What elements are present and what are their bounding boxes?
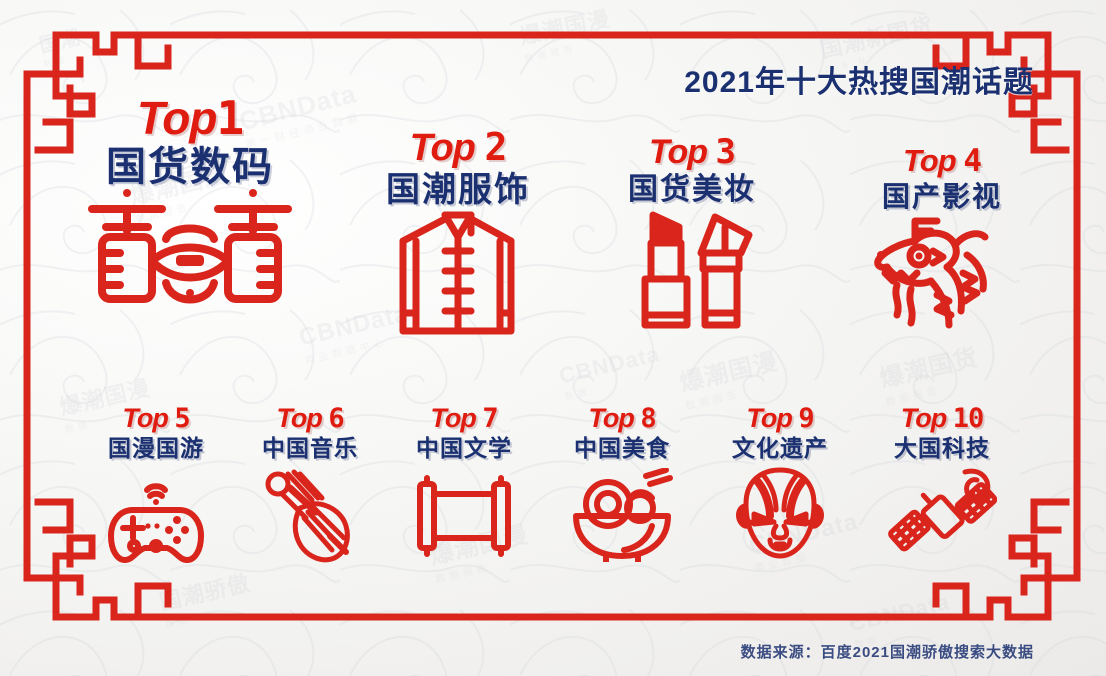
- topic-name-7: 中国文学: [404, 437, 524, 460]
- topic-name-5: 国漫国游: [96, 437, 216, 460]
- data-source-note: 数据来源：百度2021国潮骄傲搜索大数据: [741, 641, 1034, 662]
- topic-name-4: 国产影视: [862, 183, 1022, 211]
- rank-label-6: Top 6: [250, 405, 370, 432]
- dragon-icon: [862, 211, 1022, 336]
- watermark: CBNData数据: [557, 341, 666, 403]
- watermark: 国潮骄傲数据: [156, 565, 256, 631]
- rank-label-1: Top1: [70, 95, 310, 141]
- topic-card-3[interactable]: Top 3 国货美妆: [612, 135, 772, 333]
- topic-name-9: 文化遗产: [720, 437, 840, 460]
- topic-card-8[interactable]: Top 8 中国美食: [562, 405, 682, 562]
- watermark: 爆潮国漫数据报告: [516, 1, 616, 65]
- satellite-icon: [872, 466, 1012, 566]
- topic-card-4[interactable]: Top 4 国产影视: [862, 145, 1022, 336]
- topic-card-2[interactable]: Top 2 国潮服饰: [368, 128, 548, 339]
- pipa-icon: [250, 468, 370, 568]
- gamepad-icon: [96, 474, 216, 566]
- topic-card-9[interactable]: Top 9 文化遗产: [720, 405, 840, 562]
- watermark: 爆潮国漫数据报告: [676, 341, 785, 412]
- drone-icon: [70, 187, 310, 317]
- infographic-poster: CBNData第一财经商业数据 爆潮国漫数据报告 国潮新国货C B N 爆潮国漫…: [0, 0, 1106, 676]
- page-title: 2021年十大热搜国潮话题: [684, 57, 1034, 101]
- topic-name-3: 国货美妆: [612, 175, 772, 205]
- topic-name-6: 中国音乐: [250, 437, 370, 460]
- rank-label-3: Top 3: [612, 135, 772, 169]
- topic-name-10: 大国科技: [872, 437, 1012, 460]
- watermark: 爆潮国货数据报告: [876, 337, 985, 408]
- topic-name-2: 国潮服饰: [368, 173, 548, 207]
- rank-label-7: Top 7: [404, 405, 524, 432]
- opera-mask-icon: [720, 466, 840, 562]
- rank-label-10: Top 10: [872, 405, 1012, 432]
- watermark: 国潮数据: [36, 21, 86, 70]
- topic-name-1: 国货数码: [70, 147, 310, 187]
- cosmetics-icon: [612, 205, 772, 333]
- topic-name-8: 中国美食: [562, 437, 682, 460]
- rank-label-4: Top 4: [862, 145, 1022, 177]
- topic-card-1[interactable]: Top1 国货数码: [70, 95, 310, 317]
- topic-card-6[interactable]: Top 6 中国音乐: [250, 405, 370, 568]
- rank-label-5: Top 5: [96, 405, 216, 432]
- topic-card-7[interactable]: Top 7 中国文学: [404, 405, 524, 560]
- topic-card-5[interactable]: Top 5 国漫国游: [96, 405, 216, 566]
- rank-label-9: Top 9: [720, 405, 840, 432]
- noodle-bowl-icon: [562, 468, 682, 562]
- rank-label-2: Top 2: [368, 128, 548, 167]
- tangsuit-icon: [368, 207, 548, 339]
- rank-label-8: Top 8: [562, 405, 682, 432]
- topic-card-10[interactable]: Top 10 大国科技: [872, 405, 1012, 566]
- scroll-icon: [404, 474, 524, 560]
